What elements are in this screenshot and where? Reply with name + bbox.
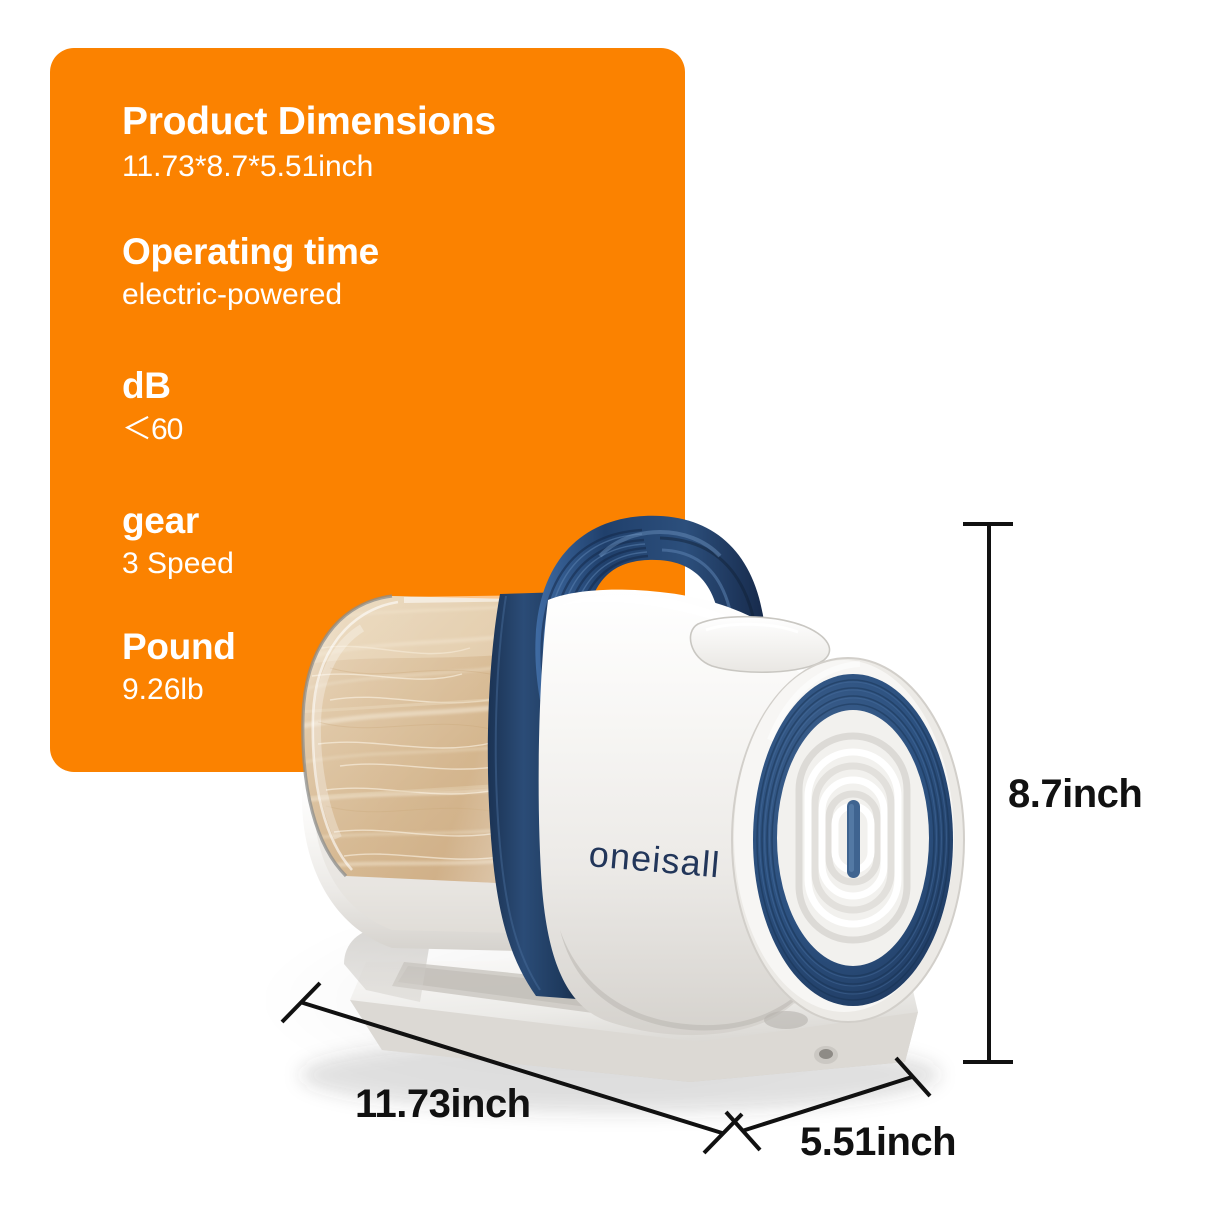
dimension-label-depth: 5.51inch: [800, 1120, 956, 1165]
base-port: [814, 1046, 838, 1064]
dimension-label-height: 8.7inch: [1008, 772, 1142, 817]
base-foot: [764, 1011, 808, 1029]
product-image: oneisall: [0, 0, 1214, 1214]
dimension-label-width: 11.73inch: [355, 1082, 531, 1127]
infographic-canvas: Product Dimensions 11.73*8.7*5.51inch Op…: [0, 0, 1214, 1214]
